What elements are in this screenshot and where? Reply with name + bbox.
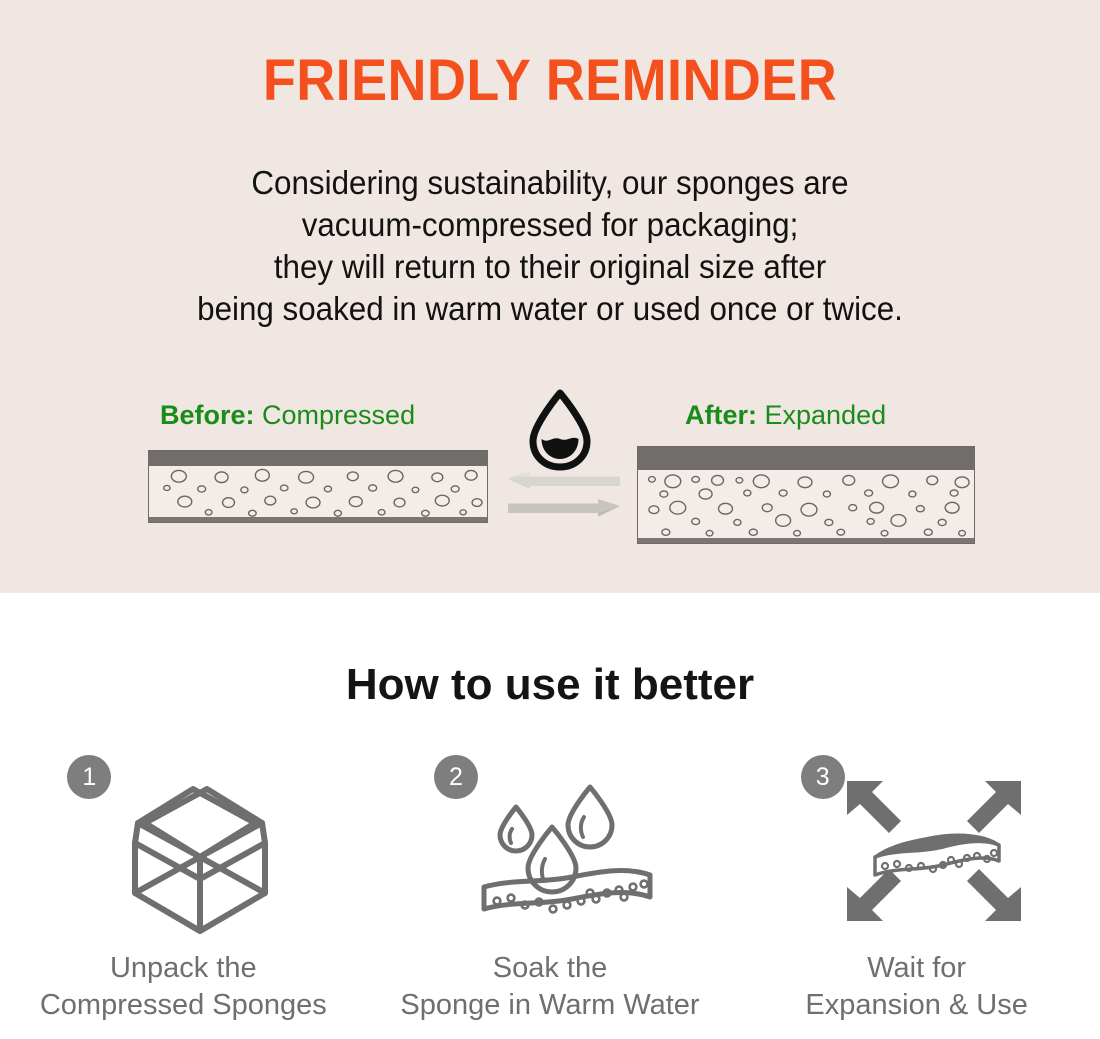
step-caption-line: Expansion & Use [805, 987, 1027, 1024]
open-box-icon [105, 765, 295, 937]
step-caption: Wait for Expansion & Use [805, 950, 1027, 1024]
swap-arrows-icon [508, 472, 620, 518]
step-caption-line: Unpack the [40, 950, 327, 987]
step-caption-line: Wait for [805, 950, 1027, 987]
step-caption: Unpack the Compressed Sponges [40, 950, 327, 1024]
step-item: 1 Un [0, 753, 367, 1024]
step-artwork: 1 [63, 753, 303, 938]
reminder-line: being soaked in warm water or used once … [28, 288, 1073, 330]
before-label-strong: Before: [160, 400, 255, 430]
before-label-rest: Compressed [262, 400, 415, 430]
compressed-sponge-image [148, 450, 488, 523]
expanding-arrows-sponge-icon [839, 765, 1029, 937]
reminder-line: vacuum-compressed for packaging; [28, 204, 1073, 246]
promo-infographic: FRIENDLY REMINDER Considering sustainabi… [0, 0, 1100, 1039]
reminder-line: they will return to their original size … [28, 246, 1073, 288]
sponge-pores [638, 447, 974, 543]
sponge-base-edge [638, 538, 974, 543]
how-to-use-panel: How to use it better 1 [0, 593, 1100, 1039]
step-artwork: 2 [430, 753, 670, 938]
after-label: After: Expanded [685, 402, 886, 429]
step-item: 3 [733, 753, 1100, 1024]
before-label: Before: Compressed [160, 402, 415, 429]
sponge-pores [149, 451, 487, 522]
water-drops-on-sponge-icon [472, 765, 662, 937]
step-artwork: 3 [797, 753, 1037, 938]
step-caption-line: Sponge in Warm Water [400, 987, 699, 1024]
step-item: 2 [367, 753, 734, 1024]
friendly-reminder-panel: FRIENDLY REMINDER Considering sustainabi… [0, 0, 1100, 593]
after-label-rest: Expanded [765, 400, 887, 430]
after-label-strong: After: [685, 400, 757, 430]
steps-list: 1 Un [0, 753, 1100, 1024]
water-drop-icon [525, 389, 595, 471]
sponge-base-edge [149, 517, 487, 522]
reminder-line: Considering sustainability, our sponges … [28, 162, 1073, 204]
step-caption-line: Compressed Sponges [40, 987, 327, 1024]
step-caption-line: Soak the [400, 950, 699, 987]
reminder-body-text: Considering sustainability, our sponges … [28, 162, 1073, 330]
step-caption: Soak the Sponge in Warm Water [400, 950, 699, 1024]
page-title: FRIENDLY REMINDER [39, 52, 1062, 110]
section-title: How to use it better [0, 663, 1100, 707]
expanded-sponge-image [637, 446, 975, 544]
